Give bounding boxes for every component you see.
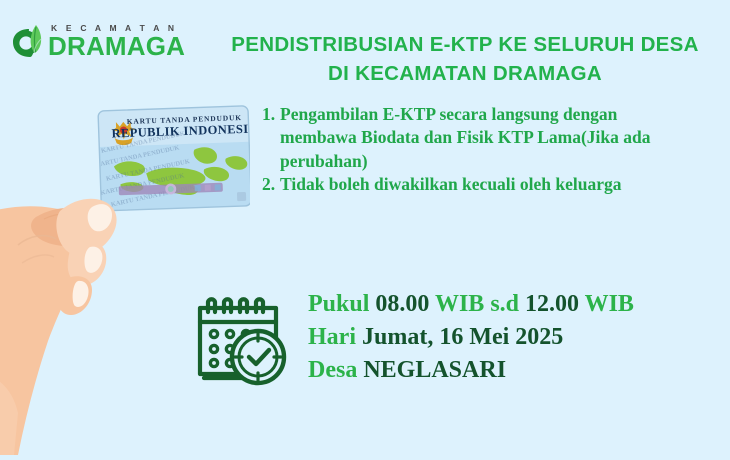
time-unit-start: WIB (435, 291, 484, 317)
place-label: Desa (308, 357, 357, 383)
hand-illustration (0, 199, 117, 455)
list-item: 2. Tidak boleh diwakilkan kecuali oleh k… (262, 173, 682, 196)
hand-holding-ktp-illustration: KARTU TANDA PENDUDUK REPUBLIK INDONESIA … (0, 95, 250, 455)
schedule-day-line: Hari Jumat, 16 Mei 2025 (308, 321, 708, 354)
list-item: 1. Pengambilan E-KTP secara langsung den… (262, 103, 682, 173)
schedule-info: Pukul 08.00 WIB s.d 12.00 WIB Hari Jumat… (308, 288, 708, 387)
page-title: PENDISTRIBUSIAN E-KTP KE SELURUH DESA DI… (215, 30, 715, 88)
list-item-text: Pengambilan E-KTP secara langsung dengan… (280, 103, 682, 173)
time-start: 08.00 (375, 291, 429, 317)
schedule-time-line: Pukul 08.00 WIB s.d 12.00 WIB (308, 288, 708, 321)
dramaga-logo: K E C A M A T A N DRAMAGA (10, 17, 185, 66)
time-unit-end: WIB (585, 291, 634, 317)
time-separator: s.d (490, 291, 519, 317)
day-label: Hari (308, 324, 356, 350)
time-label: Pukul (308, 291, 369, 317)
time-end: 12.00 (525, 291, 579, 317)
title-line-1: PENDISTRIBUSIAN E-KTP KE SELURUH DESA (215, 30, 715, 59)
schedule-place-line: Desa NEGLASARI (308, 354, 708, 387)
logo-dramaga-text: DRAMAGA (48, 34, 185, 59)
day-value: Jumat, 16 Mei 2025 (362, 324, 563, 350)
title-line-2: DI KECAMATAN DRAMAGA (215, 59, 715, 88)
ktp-card-illustration: KARTU TANDA PENDUDUK REPUBLIK INDONESIA … (93, 105, 250, 211)
list-item-number: 1. (262, 103, 280, 126)
place-value: NEGLASARI (363, 357, 506, 383)
list-item-number: 2. (262, 173, 280, 196)
leaf-droplet-icon (10, 17, 50, 66)
rules-list: 1. Pengambilan E-KTP secara langsung den… (262, 103, 682, 196)
logo-wordmark: K E C A M A T A N DRAMAGA (48, 24, 185, 58)
list-item-text: Tidak boleh diwakilkan kecuali oleh kelu… (280, 173, 682, 196)
